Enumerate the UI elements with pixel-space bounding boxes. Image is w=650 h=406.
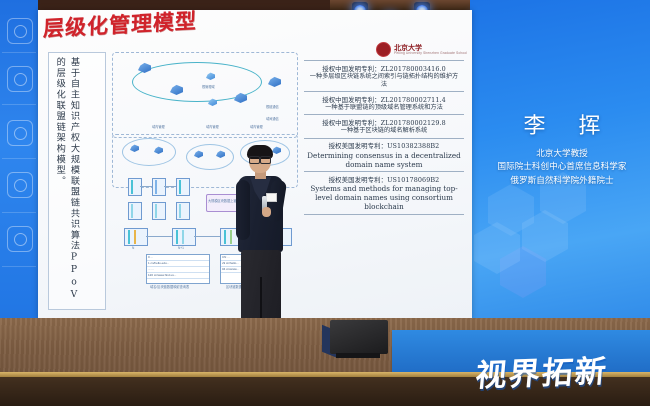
patent-item: 授权中国发明专利：ZL201780002711.4 一种基于联盟链的顶级域名管理… [304,92,464,115]
stage-banner: 视界拓新 [470,344,650,400]
chain-block [128,202,142,220]
patent-item: 授权中国发明专利：ZL201780002129.8 一种基于区块链的域名解析系统 [304,115,464,138]
diagram-label: 根管理域 [202,84,215,89]
chain-block [124,228,148,246]
university-logo: 北京大学 Peking University Shenzhen Graduate… [376,42,467,57]
logo-english: Peking University Shenzhen Graduate Scho… [394,51,467,55]
legend-label: 根链通信 [266,104,279,109]
speaker-name: 李 挥 [478,108,646,140]
led-side-panel-left [0,0,38,320]
diagram-label: 域内管理 [250,124,263,129]
speaker-titles: 北京大学教授 国际院士科创中心首席信息科学家 俄罗斯自然科学院外籍院士 [478,147,646,187]
diagram-label: 域内管理 [206,124,219,129]
circuit-line [2,52,36,53]
patent-title: 一种基于联盟链的顶级域名管理系统和方法 [307,104,461,112]
speaker-title-line: 俄罗斯自然科学院外籍院士 [478,174,646,187]
patent-title: 一种基于区块链的域名解析系统 [307,127,461,135]
slide-summary-box: 基于自主知识产权大规模联盟链共识算法PPoV的层级化联盟链架构模型。 [48,52,106,310]
network-icon [7,226,33,252]
patent-number: 授权美国发明专利：US10382388B2 [307,141,461,150]
chain-block [152,178,166,196]
patent-title: Systems and methods for managing top-lev… [307,184,461,211]
hand [262,207,271,217]
index-table: 0 ... 1 cn/hello.edu... ... ... 120 cn/w… [146,254,210,284]
diagram-label: 域内管理 [152,124,165,129]
patent-item: 授权美国发明专利：US10382388B2 Determining consen… [304,139,464,173]
table-row: 120 cn/www.find.us... [147,273,209,279]
chain-arrow [140,186,152,187]
patent-number: 授权中国发明专利：ZL201780002711.4 [307,95,461,104]
slide-summary-text: 基于自主知识产权大规模联盟链共识算法PPoV的层级化联盟链架构模型。 [52,57,81,305]
name-badge [266,193,277,202]
lock-icon [7,66,33,92]
slot-label: N+1 [178,246,184,250]
chain-block [172,228,196,246]
zone-ring [186,144,234,170]
patent-title: Determining consensus in a decentralized… [307,151,461,169]
monitor-body [330,320,388,354]
gear-icon [7,18,33,44]
chain-block [176,178,190,196]
logo-name: 北京大学 [394,44,467,51]
conference-stage-photo: 李 挥 北京大学教授 国际院士科创中心首席信息科学家 俄罗斯自然科学院外籍院士 … [0,0,650,406]
glasses-icon [249,156,271,162]
slide-title: 层级化管理模型 [43,10,198,39]
patent-item: 授权中国发明专利：ZL201780003416.0 一种多层级区块链系统之间索引… [304,60,464,92]
left-arm [236,180,250,240]
cloud-icon [7,120,33,146]
chip-icon [7,172,33,198]
patent-item: 授权美国发明专利：US10178069B2 Systems and method… [304,172,464,215]
circuit-line [2,158,36,159]
chain-block [152,202,166,220]
patent-title: 一种多层级区块链系统之间索引与链拓扑结构的维护方法 [307,73,461,89]
chain-arrow [194,236,220,237]
patent-list: 授权中国发明专利：ZL201780003416.0 一种多层级区块链系统之间索引… [304,60,464,215]
index-table-caption: 域名/区块链数据映射查询表 [150,284,189,289]
banner-text: 视界拓新 [474,346,610,396]
chain-arrow [146,236,172,237]
chain-block [176,202,190,220]
patent-number: 授权美国发明专利：US10178069B2 [307,175,461,184]
led-side-panel-right: 李 挥 北京大学教授 国际院士科创中心首席信息科学家 俄罗斯自然科学院外籍院士 [470,0,650,330]
chain-arrow [164,186,176,187]
stage-monitor-speaker [322,318,390,358]
speaker-name-panel: 李 挥 北京大学教授 国际院士科创中心首席信息科学家 俄罗斯自然科学院外籍院士 [478,108,646,187]
patent-number: 授权中国发明专利：ZL201780003416.0 [307,64,461,73]
circuit-line [2,104,36,105]
patent-number: 授权中国发明专利：ZL201780002129.8 [307,118,461,127]
zone-ring [122,138,176,166]
circuit-line [2,266,36,267]
speaker-title-line: 国际院士科创中心首席信息科学家 [478,160,646,173]
speaker-title-line: 北京大学教授 [478,147,646,160]
monitor-base [336,353,380,358]
pku-seal-icon [376,42,391,57]
legend-label: 域间通信 [266,116,279,121]
chain-block [128,178,142,196]
circuit-line [2,212,36,213]
slot-label: N [132,246,134,250]
